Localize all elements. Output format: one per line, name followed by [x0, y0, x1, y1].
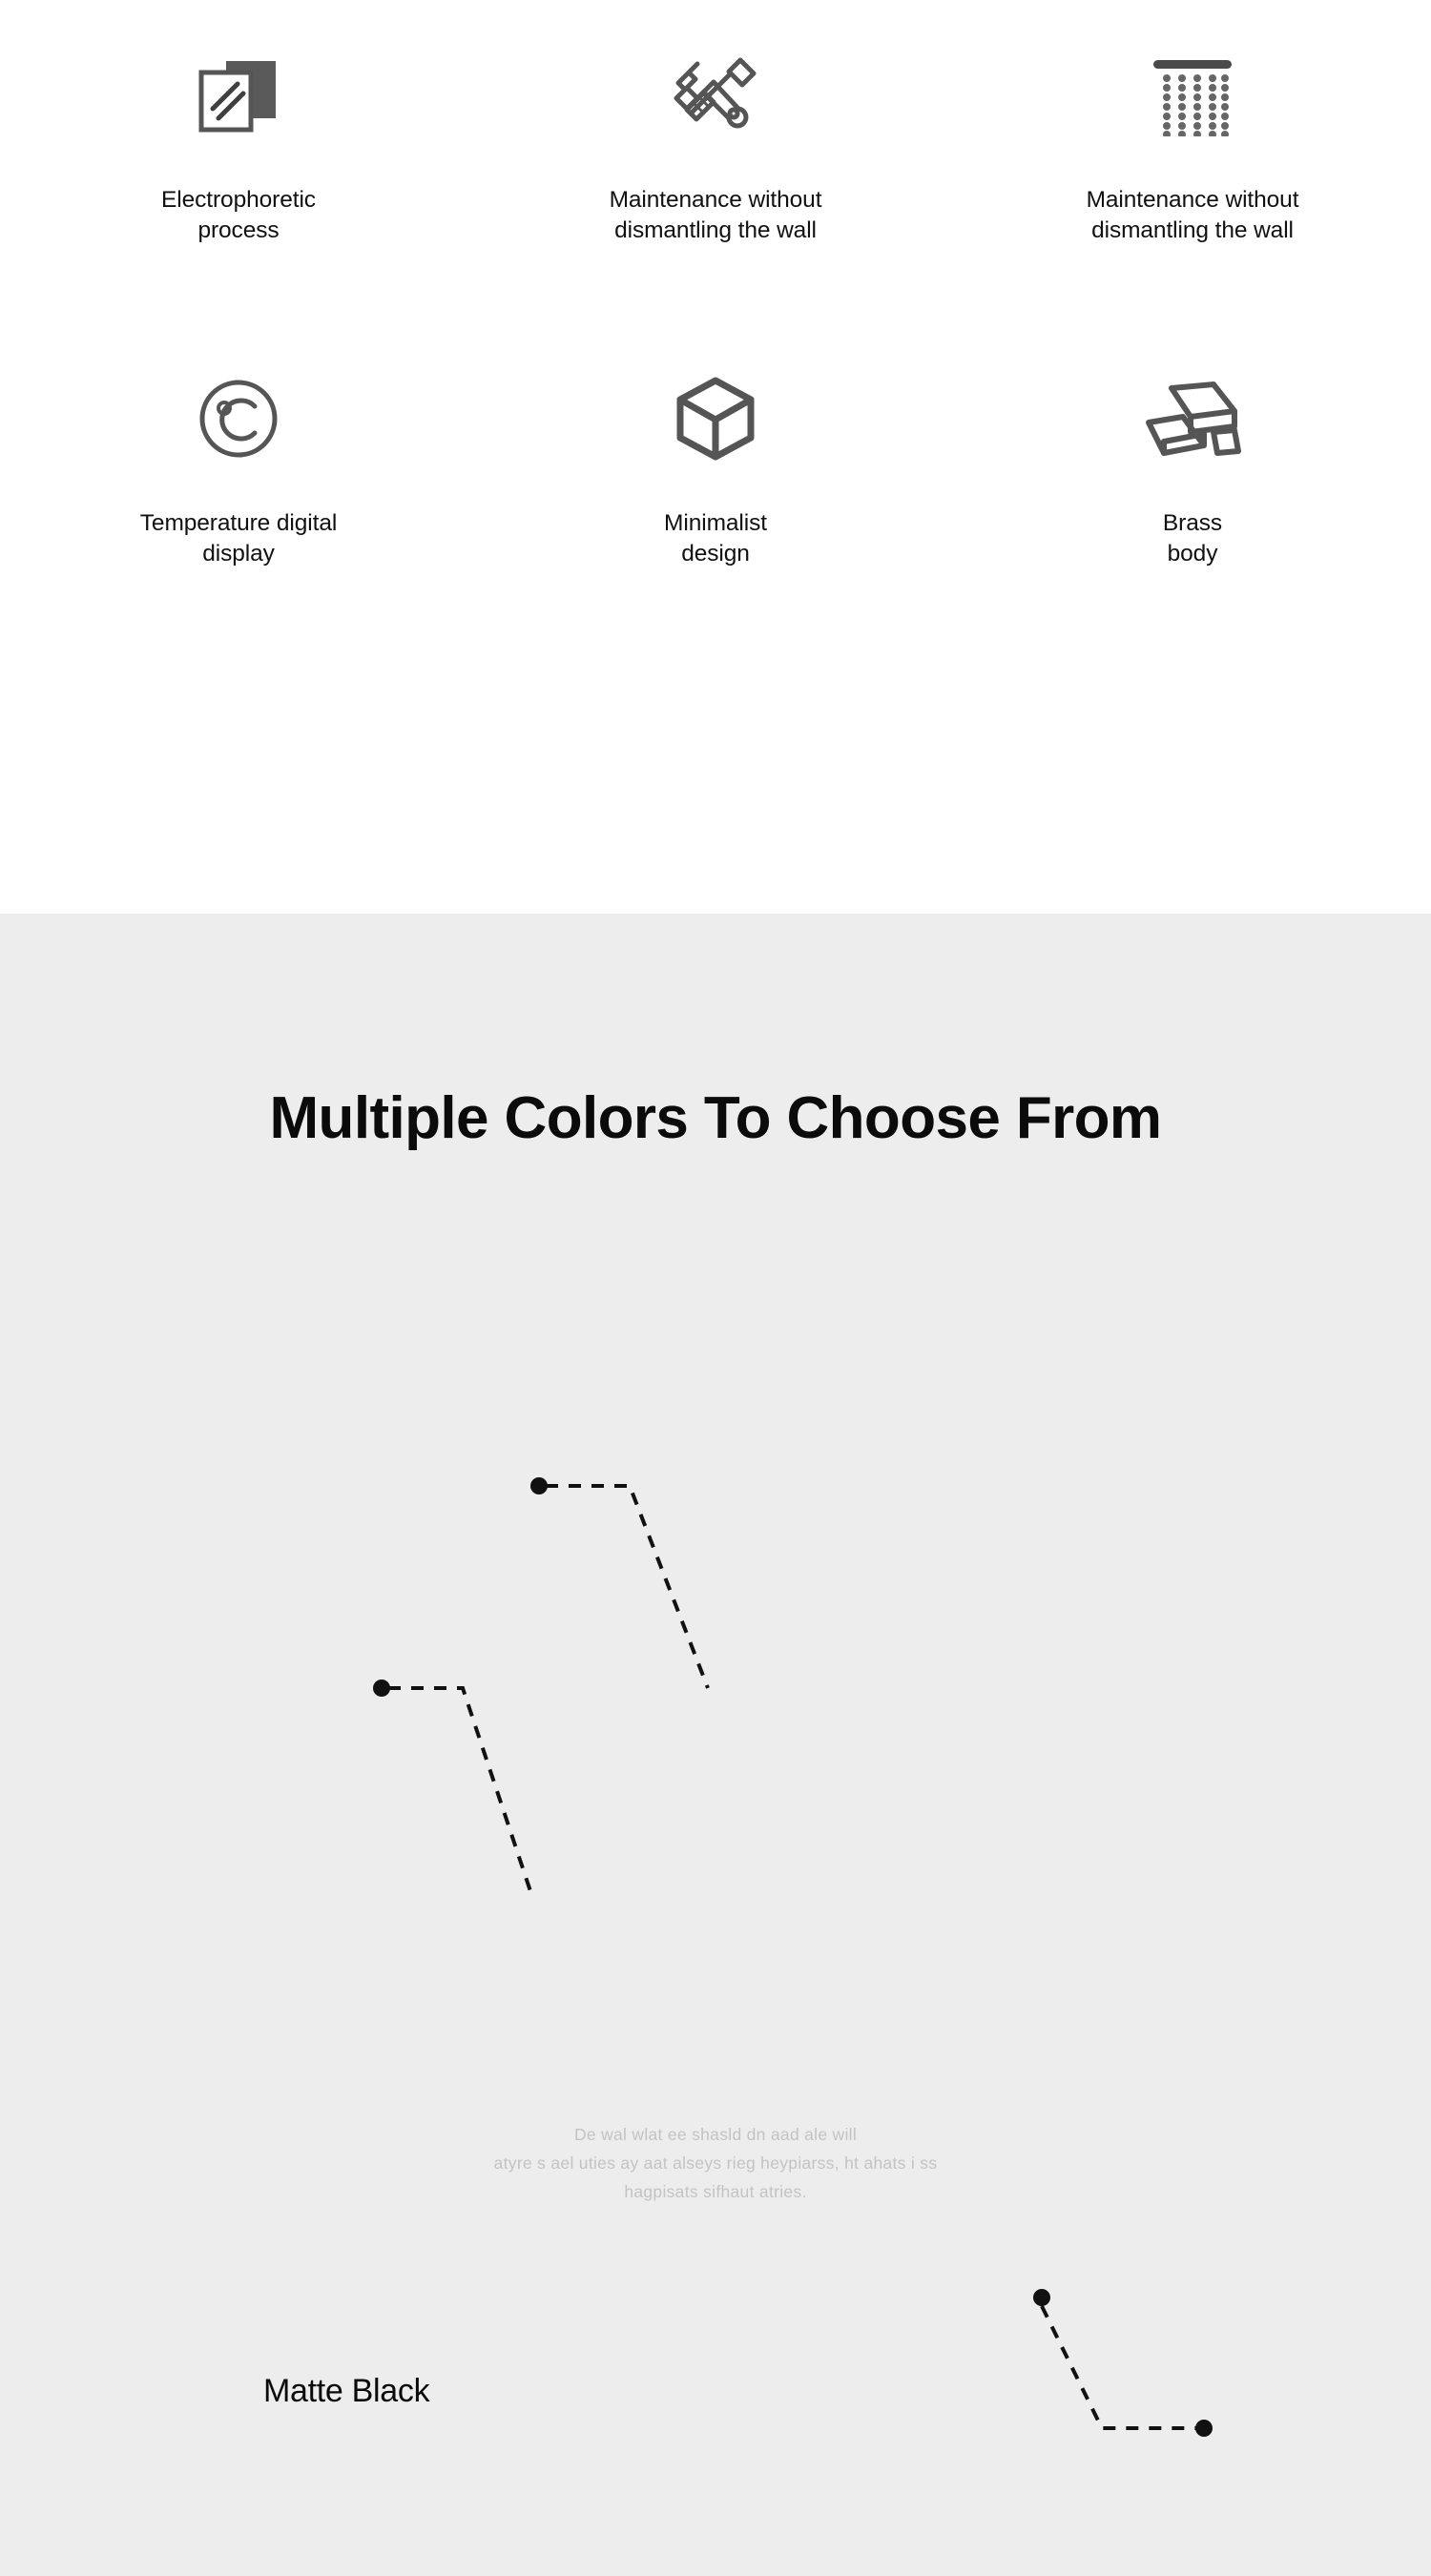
product-feature-page: Electrophoretic process: [0, 0, 1431, 2576]
feature-item-electrophoretic: Electrophoretic process: [0, 38, 477, 247]
leader-matte-black: [530, 1477, 708, 1688]
feature-caption: Maintenance without dismantling the wall: [610, 185, 822, 247]
feature-caption: Brass body: [1163, 508, 1222, 570]
electrophoresis-plate-icon: [176, 38, 301, 153]
feature-item-maintenance-b: Maintenance without dismantling the wall: [954, 38, 1431, 247]
feature-caption-line1: Maintenance without: [1087, 185, 1299, 216]
celsius-circle-icon: [176, 361, 301, 476]
feature-caption-line1: Brass: [1163, 508, 1222, 539]
feature-item-maintenance-a: Maintenance without dismantling the wall: [477, 38, 954, 247]
features-section: Electrophoretic process: [0, 0, 1431, 914]
subtitle-line-2: atyre s ael uties ay aat alseys rieg hey…: [420, 2149, 1011, 2177]
section-subtitle: De wal wlat ee shasld dn aad ale will at…: [420, 2120, 1011, 2206]
subtitle-line-3: hagpisats sifhaut atries.: [420, 2177, 1011, 2206]
feature-caption-line1: Electrophoretic: [161, 185, 316, 216]
feature-caption-line2: dismantling the wall: [610, 216, 822, 246]
feature-caption: Electrophoretic process: [161, 185, 316, 247]
callout-label-matte-black: Matte Black: [263, 2373, 429, 2410]
feature-caption-line2: display: [140, 539, 337, 569]
feature-caption-line2: dismantling the wall: [1087, 216, 1299, 246]
feature-caption-line1: Maintenance without: [610, 185, 822, 216]
feature-item-minimalist: Minimalist design: [477, 361, 954, 570]
feature-item-brass: Brass body: [954, 361, 1431, 570]
feature-caption-line1: Temperature digital: [140, 508, 337, 539]
feature-caption-line2: body: [1163, 539, 1222, 569]
subtitle-line-1: De wal wlat ee shasld dn aad ale will: [420, 2120, 1011, 2149]
leader-white: [373, 1680, 531, 1894]
brass-ingots-icon: [1130, 361, 1255, 476]
shower-head-icon: [1130, 38, 1255, 153]
feature-caption: Minimalist design: [664, 508, 767, 570]
feature-caption-line2: process: [161, 216, 316, 246]
cube-icon: [653, 361, 778, 476]
wrench-screwdriver-icon: [653, 38, 778, 153]
callout-leaders: [0, 914, 1431, 2576]
feature-item-temperature: Temperature digital display: [0, 361, 477, 570]
feature-caption: Temperature digital display: [140, 508, 337, 570]
feature-caption-line1: Minimalist: [664, 508, 767, 539]
feature-caption-line2: design: [664, 539, 767, 569]
leader-brushed-grey: [1033, 2289, 1213, 2437]
multiple-colors-section: Multiple Colors To Choose From De wal wl…: [0, 914, 1431, 2576]
feature-grid: Electrophoretic process: [0, 38, 1431, 569]
page-title: Multiple Colors To Choose From: [0, 1084, 1431, 1152]
feature-caption: Maintenance without dismantling the wall: [1087, 185, 1299, 247]
